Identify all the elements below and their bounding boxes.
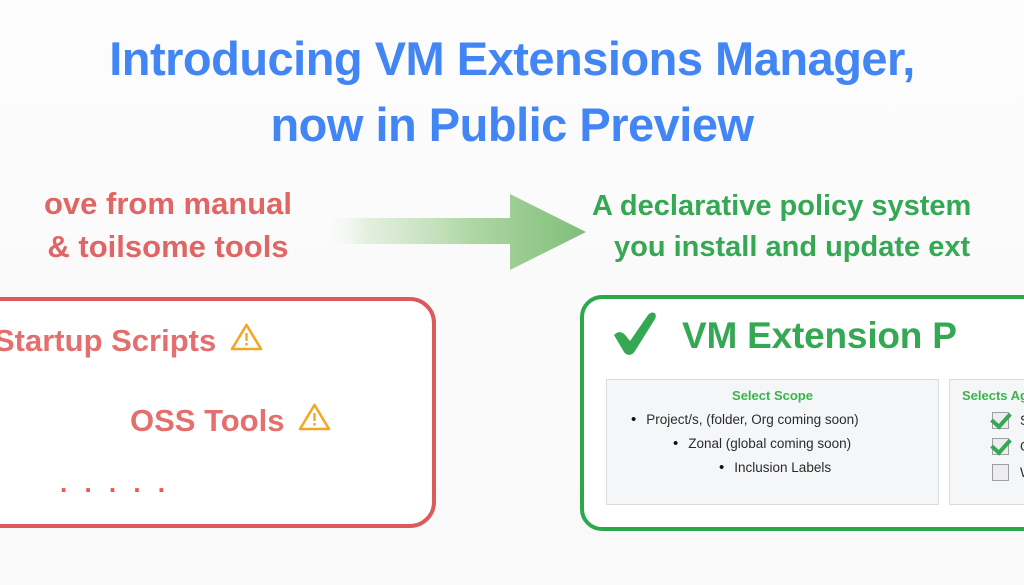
scope-option-label: Project/s, (folder, Org coming soon) [646, 412, 858, 427]
list-item: Startup Scripts [0, 322, 263, 360]
checkbox-sa[interactable] [992, 412, 1009, 429]
selects-agents-panel: Selects Ag SA Op Wo [949, 379, 1024, 505]
right-headline-line-1: A declarative policy system [592, 186, 1024, 227]
warning-triangle-icon [230, 322, 263, 360]
arrow-right-icon [318, 186, 590, 278]
list-item: SA [950, 412, 1024, 429]
oss-tools-label: OSS Tools [130, 403, 284, 439]
checkbox-op[interactable] [992, 438, 1009, 455]
checkbox-wo[interactable] [992, 464, 1009, 481]
select-scope-panel: Select Scope • Project/s, (folder, Org c… [606, 379, 939, 505]
list-item: Wo [950, 464, 1024, 481]
scope-option-label: Zonal (global coming soon) [688, 436, 851, 451]
card-heading: VM Extension P [608, 309, 957, 362]
bullet-icon: • [673, 436, 678, 451]
ellipsis-dots: . . . . . [60, 473, 170, 493]
startup-scripts-label: Startup Scripts [0, 323, 216, 359]
agent-option-label: Op [1020, 439, 1024, 454]
slide-canvas: Introducing VM Extensions Manager, now i… [0, 0, 1024, 585]
list-item: OSS Tools [130, 402, 331, 440]
agent-option-label: SA [1020, 413, 1024, 428]
bullet-icon: • [719, 460, 724, 475]
title-line-2: now in Public Preview [0, 92, 1024, 158]
scope-option-label: Inclusion Labels [734, 460, 831, 475]
page-title: Introducing VM Extensions Manager, now i… [0, 26, 1024, 158]
list-item: • Inclusion Labels [607, 460, 938, 475]
list-item: • Project/s, (folder, Org coming soon) [607, 412, 938, 427]
select-scope-title: Select Scope [607, 388, 938, 403]
list-item: Op [950, 438, 1024, 455]
title-line-1: Introducing VM Extensions Manager, [0, 26, 1024, 92]
bullet-icon: • [631, 412, 636, 427]
right-headline-line-2: you install and update ext [592, 227, 1024, 268]
agent-option-label: Wo [1020, 465, 1024, 480]
vm-extension-policy-card: VM Extension P Select Scope • Project/s,… [580, 295, 1024, 531]
card-heading-label: VM Extension P [682, 315, 957, 357]
manual-tools-card: Startup Scripts OSS Tools [0, 297, 436, 528]
selects-agents-title: Selects Ag [950, 388, 1024, 403]
right-headline: A declarative policy system you install … [592, 186, 1024, 268]
checkmark-icon [608, 309, 664, 362]
warning-triangle-icon [298, 402, 331, 440]
list-item: • Zonal (global coming soon) [607, 436, 938, 451]
